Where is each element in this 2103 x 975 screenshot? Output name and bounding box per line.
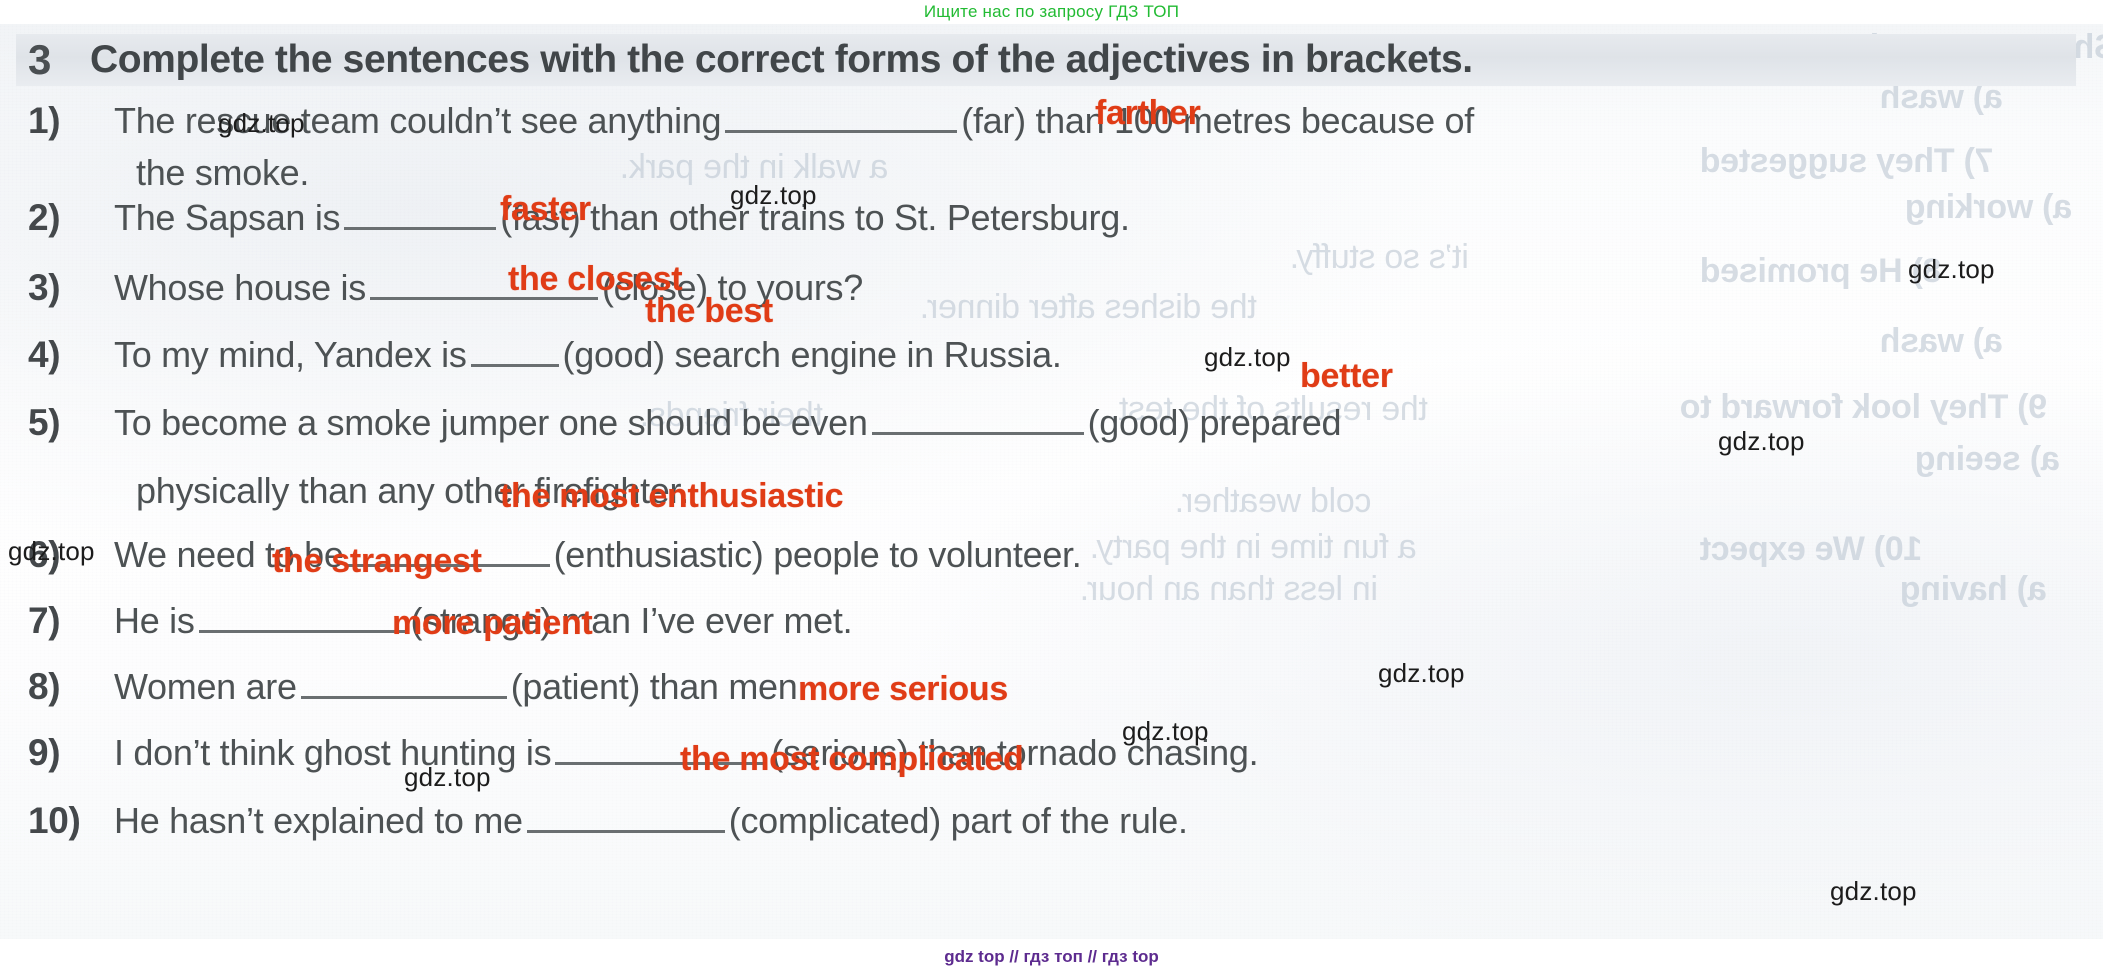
question-text-after: (good) search engine in Russia. [563, 334, 1062, 376]
answer-handwritten: the strangest [272, 542, 482, 581]
answer-blank[interactable] [527, 803, 725, 833]
answer-blank[interactable] [301, 669, 507, 699]
watermark-gdz-top: gdz.top [1908, 254, 1995, 285]
question-text-before: Whose house is [114, 267, 366, 309]
question-text-after: (good) prepared [1088, 402, 1342, 444]
question-text-after: (complicated) part of the rule. [729, 800, 1188, 842]
question-number: 7) [28, 600, 114, 642]
watermark-gdz-top: gdz.top [218, 108, 305, 139]
question-row: 6) We need to be (enthusiastic) people t… [28, 534, 1081, 576]
watermark-gdz-top: gdz.top [404, 762, 491, 793]
exercise-number: 3 [28, 36, 90, 84]
watermark-gdz-top: gdz.top [730, 180, 817, 211]
answer-handwritten: faster [500, 190, 591, 229]
exercise-question-list: 1) The rescue team couldn’t see anything… [0, 92, 2103, 907]
answer-handwritten: the most complicated [680, 740, 1024, 779]
watermark-gdz-top: gdz.top [1204, 342, 1291, 373]
watermark-gdz-top: gdz.top [8, 536, 95, 567]
question-number: 9) [28, 732, 114, 774]
question-text-before: To become a smoke jumper one should be e… [114, 402, 868, 444]
watermark-gdz-top: gdz.top [1378, 658, 1465, 689]
question-text-before: The Sapsan is [114, 197, 340, 239]
answer-blank[interactable] [199, 603, 407, 633]
question-text-before: He is [114, 600, 195, 642]
answer-blank[interactable] [725, 103, 957, 133]
top-promo-banner: Ищите нас по запросу ГДЗ ТОП [0, 0, 2103, 24]
question-text-after: (patient) than men. [511, 666, 807, 708]
exercise-title: Complete the sentences with the correct … [90, 38, 1473, 82]
question-text-before: He hasn’t explained to me [114, 800, 523, 842]
question-number: 5) [28, 402, 114, 444]
question-row: 5) To become a smoke jumper one should b… [28, 402, 1341, 444]
answer-handwritten: the best [645, 292, 773, 331]
question-text-before: The rescue team couldn’t see anything [114, 100, 721, 142]
question-row: 10) He hasn’t explained to me (complicat… [28, 800, 1188, 842]
question-number: 1) [28, 100, 114, 142]
answer-handwritten: more serious [798, 670, 1008, 709]
question-number: 8) [28, 666, 114, 708]
question-text-before: Women are [114, 666, 297, 708]
bottom-promo-banner: gdz top // гдз топ // гдз top [0, 939, 2103, 975]
question-number: 2) [28, 197, 114, 239]
answer-blank[interactable] [872, 405, 1084, 435]
answer-handwritten: the most enthusiastic [500, 477, 843, 516]
question-text-after: (far) than 100 metres because of [961, 100, 1474, 142]
answer-handwritten: better [1300, 357, 1393, 396]
answer-handwritten: farther [1095, 94, 1201, 133]
question-number: 10) [28, 800, 114, 842]
answer-blank[interactable] [471, 337, 559, 367]
watermark-gdz-top: gdz.top [1830, 876, 1917, 907]
watermark-gdz-top: gdz.top [1718, 426, 1805, 457]
question-number: 3) [28, 267, 114, 309]
question-text-after: (enthusiastic) people to volunteer. [554, 534, 1082, 576]
watermark-gdz-top: gdz.top [1122, 716, 1209, 747]
question-number: 4) [28, 334, 114, 376]
exercise-heading: 3 Complete the sentences with the correc… [28, 32, 2078, 88]
question-row: 8) Women are (patient) than men. [28, 666, 807, 708]
question-row: 4) To my mind, Yandex is (good) search e… [28, 334, 1062, 376]
answer-handwritten: more patient [392, 604, 592, 643]
answer-blank[interactable] [344, 200, 496, 230]
question-text-before: To my mind, Yandex is [114, 334, 467, 376]
question-continuation: the smoke. [136, 152, 309, 194]
question-row: 9) I don’t think ghost hunting is (serio… [28, 732, 1258, 774]
